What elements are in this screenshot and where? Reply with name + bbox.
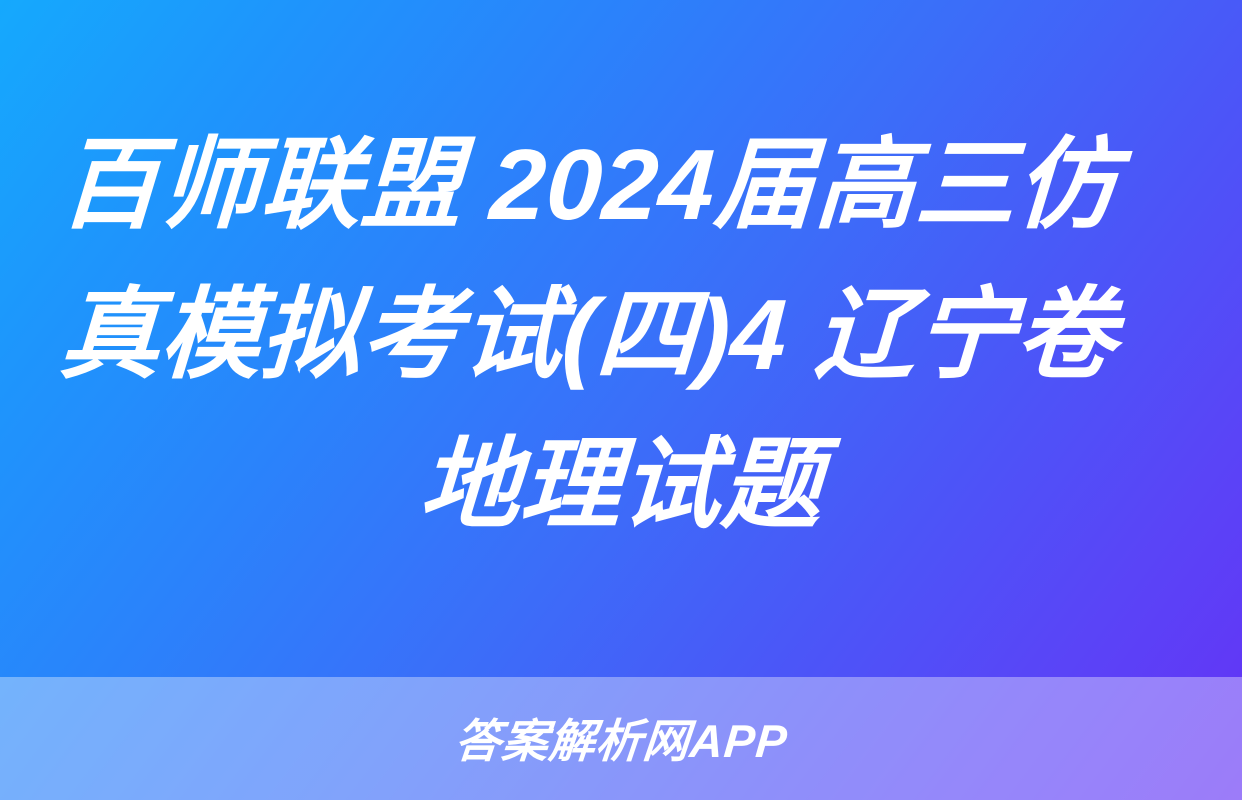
title-line-3: 地理试题	[56, 410, 1186, 560]
exam-cover-card: 百师联盟 2024届高三仿 真模拟考试(四)4 辽宁卷 地理试题 答案解析网AP…	[0, 0, 1242, 800]
watermark-band: 答案解析网APP	[0, 677, 1242, 800]
watermark-app-label: 答案解析网APP	[453, 716, 790, 766]
title-line-1: 百师联盟 2024届高三仿	[56, 110, 1186, 260]
title-line-2: 真模拟考试(四)4 辽宁卷	[56, 260, 1186, 410]
title-block: 百师联盟 2024届高三仿 真模拟考试(四)4 辽宁卷 地理试题	[0, 0, 1242, 677]
